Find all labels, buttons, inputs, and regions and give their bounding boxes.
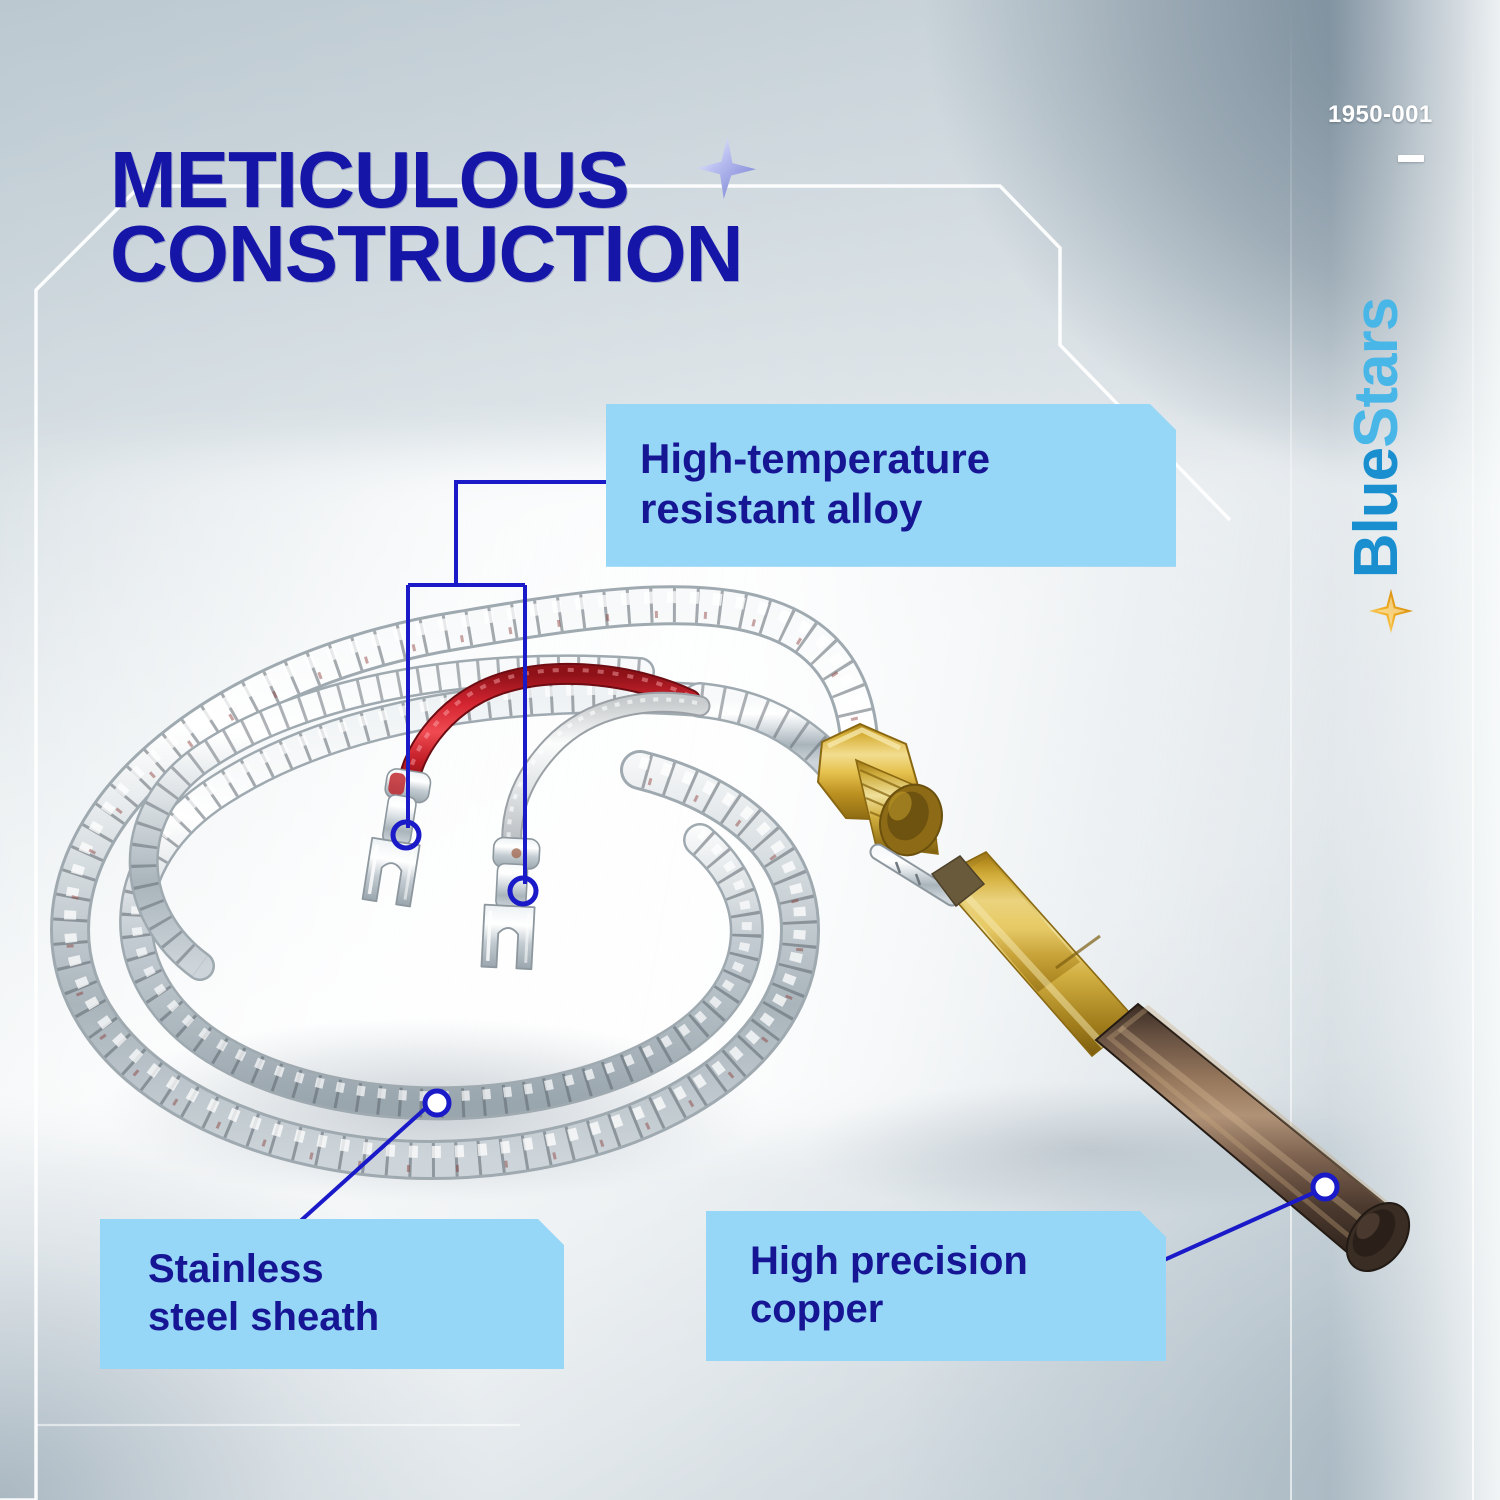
spade-terminal-right bbox=[481, 837, 540, 970]
part-number: 1950-001 bbox=[1328, 101, 1433, 129]
callout-high-temperature-alloy[interactable]: High-temperature resistant alloy bbox=[606, 404, 1176, 567]
callout-high-precision-copper[interactable]: High precision copper bbox=[706, 1211, 1166, 1361]
logo-star-icon bbox=[1368, 586, 1414, 636]
brass-ferrule-body bbox=[932, 852, 1136, 1056]
page-title: METICULOUS CONSTRUCTION bbox=[110, 143, 742, 290]
callout-line-2: resistant alloy bbox=[640, 484, 1148, 534]
callout-line-1: Stainless bbox=[148, 1247, 324, 1291]
page-title-line2: CONSTRUCTION bbox=[110, 217, 742, 291]
logo-word-stars: Stars bbox=[1342, 298, 1411, 448]
part-number-divider bbox=[1398, 155, 1424, 162]
callout-line-2: copper bbox=[750, 1285, 1142, 1333]
callout-line-1: High-temperature bbox=[640, 435, 990, 482]
bluestars-logo[interactable]: BlueStars bbox=[1318, 228, 1436, 648]
callout-line-2: steel sheath bbox=[148, 1293, 540, 1341]
brass-hex-compression-nut bbox=[818, 724, 952, 865]
title-star-icon bbox=[694, 131, 756, 205]
logo-word-blue: Blue bbox=[1342, 448, 1411, 578]
callout-line-1: High precision bbox=[750, 1239, 1028, 1283]
infographic-canvas: 1950-001 BlueStars METICULOUS CONSTRUCTI… bbox=[0, 0, 1500, 1500]
spade-terminal-left bbox=[363, 767, 432, 907]
callout-stainless-steel-sheath[interactable]: Stainless steel sheath bbox=[100, 1219, 564, 1369]
